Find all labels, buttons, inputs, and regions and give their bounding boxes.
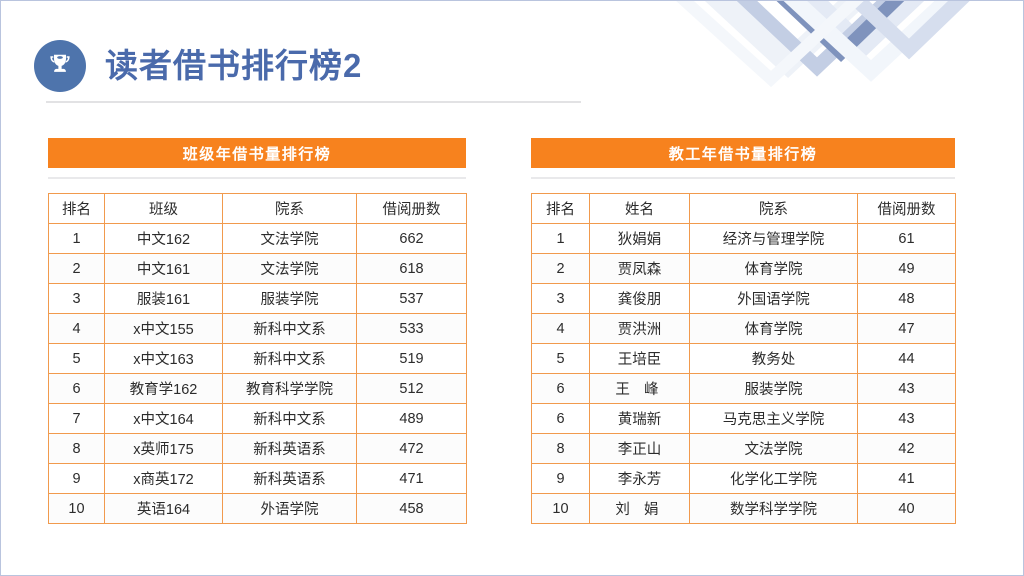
cell-name: 李正山	[590, 434, 690, 464]
table-row: 1 狄娟娟 经济与管理学院 61	[532, 224, 956, 254]
cell-department: 文法学院	[223, 254, 357, 284]
table-row: 2 中文161 文法学院 618	[49, 254, 467, 284]
cell-name: 龚俊朋	[590, 284, 690, 314]
cell-count: 512	[357, 374, 467, 404]
cell-class: 英语164	[105, 494, 223, 524]
staff-ranking-banner: 教工年借书量排行榜	[531, 138, 955, 168]
cell-name: 贾凤森	[590, 254, 690, 284]
cell-department: 服装学院	[223, 284, 357, 314]
cell-count: 44	[858, 344, 956, 374]
cell-count: 519	[357, 344, 467, 374]
table-row: 3 服装161 服装学院 537	[49, 284, 467, 314]
cell-count: 533	[357, 314, 467, 344]
column-header-department: 院系	[223, 194, 357, 224]
cell-count: 42	[858, 434, 956, 464]
cell-department: 体育学院	[690, 314, 858, 344]
cell-rank: 8	[49, 434, 105, 464]
table-row: 3 龚俊朋 外国语学院 48	[532, 284, 956, 314]
cell-count: 471	[357, 464, 467, 494]
cell-rank: 9	[532, 464, 590, 494]
column-header-name: 姓名	[590, 194, 690, 224]
cell-name: 黄瑞新	[590, 404, 690, 434]
cell-department: 新科中文系	[223, 404, 357, 434]
cell-rank: 9	[49, 464, 105, 494]
cell-count: 61	[858, 224, 956, 254]
trophy-icon-svg	[45, 51, 75, 81]
cell-department: 新科英语系	[223, 434, 357, 464]
class-banner-underline	[48, 177, 466, 179]
cell-count: 458	[357, 494, 467, 524]
table-row: 2 贾凤森 体育学院 49	[532, 254, 956, 284]
table-row: 10 英语164 外语学院 458	[49, 494, 467, 524]
cell-rank: 3	[49, 284, 105, 314]
cell-count: 41	[858, 464, 956, 494]
cell-rank: 1	[532, 224, 590, 254]
cell-rank: 6	[49, 374, 105, 404]
table-row: 9 x商英172 新科英语系 471	[49, 464, 467, 494]
cell-department: 教育科学学院	[223, 374, 357, 404]
cell-rank: 6	[532, 404, 590, 434]
table-row: 5 x中文163 新科中文系 519	[49, 344, 467, 374]
cell-rank: 5	[532, 344, 590, 374]
table-row: 7 x中文164 新科中文系 489	[49, 404, 467, 434]
cell-class: 中文162	[105, 224, 223, 254]
cell-class: x商英172	[105, 464, 223, 494]
cell-department: 数学科学学院	[690, 494, 858, 524]
cell-department: 教务处	[690, 344, 858, 374]
cell-count: 48	[858, 284, 956, 314]
cell-count: 537	[357, 284, 467, 314]
class-ranking-panel: 班级年借书量排行榜 排名 班级 院系 借阅册数 1 中文162 文法学院 6	[48, 138, 466, 524]
cell-rank: 7	[49, 404, 105, 434]
cell-name: 李永芳	[590, 464, 690, 494]
cell-count: 662	[357, 224, 467, 254]
cell-rank: 2	[49, 254, 105, 284]
cell-rank: 10	[49, 494, 105, 524]
cell-department: 文法学院	[223, 224, 357, 254]
cell-count: 43	[858, 404, 956, 434]
slide-canvas: 读者借书排行榜2 班级年借书量排行榜 排名 班级 院系 借阅册数 1 中文16	[0, 0, 1024, 576]
cell-department: 体育学院	[690, 254, 858, 284]
column-header-rank: 排名	[49, 194, 105, 224]
table-row: 9 李永芳 化学化工学院 41	[532, 464, 956, 494]
cell-department: 化学化工学院	[690, 464, 858, 494]
table-row: 10 刘 娟 数学科学学院 40	[532, 494, 956, 524]
cell-rank: 4	[49, 314, 105, 344]
cell-department: 外国语学院	[690, 284, 858, 314]
cell-department: 经济与管理学院	[690, 224, 858, 254]
table-row: 6 王 峰 服装学院 43	[532, 374, 956, 404]
cell-class: x中文155	[105, 314, 223, 344]
table-row: 5 王培臣 教务处 44	[532, 344, 956, 374]
table-row: 8 x英师175 新科英语系 472	[49, 434, 467, 464]
column-header-rank: 排名	[532, 194, 590, 224]
column-header-class: 班级	[105, 194, 223, 224]
cell-class: 教育学162	[105, 374, 223, 404]
cell-department: 服装学院	[690, 374, 858, 404]
cell-class: x中文164	[105, 404, 223, 434]
cell-department: 马克思主义学院	[690, 404, 858, 434]
cell-count: 489	[357, 404, 467, 434]
cell-department: 外语学院	[223, 494, 357, 524]
cell-count: 47	[858, 314, 956, 344]
column-header-department: 院系	[690, 194, 858, 224]
title-divider	[46, 101, 581, 103]
cell-rank: 10	[532, 494, 590, 524]
staff-banner-underline	[531, 177, 955, 179]
cell-count: 43	[858, 374, 956, 404]
cell-class: 服装161	[105, 284, 223, 314]
cell-name: 王 峰	[590, 374, 690, 404]
table-header-row: 排名 姓名 院系 借阅册数	[532, 194, 956, 224]
table-row: 8 李正山 文法学院 42	[532, 434, 956, 464]
cell-count: 49	[858, 254, 956, 284]
cell-rank: 5	[49, 344, 105, 374]
class-ranking-banner: 班级年借书量排行榜	[48, 138, 466, 168]
staff-ranking-panel: 教工年借书量排行榜 排名 姓名 院系 借阅册数 1 狄娟娟 经济与管理学院	[531, 138, 955, 524]
staff-ranking-table: 排名 姓名 院系 借阅册数 1 狄娟娟 经济与管理学院 61 2 贾凤森 体育学…	[531, 193, 956, 524]
table-row: 4 贾洪洲 体育学院 47	[532, 314, 956, 344]
cell-rank: 1	[49, 224, 105, 254]
cell-department: 新科中文系	[223, 344, 357, 374]
cell-count: 618	[357, 254, 467, 284]
column-header-count: 借阅册数	[357, 194, 467, 224]
column-header-count: 借阅册数	[858, 194, 956, 224]
table-row: 6 黄瑞新 马克思主义学院 43	[532, 404, 956, 434]
table-row: 6 教育学162 教育科学学院 512	[49, 374, 467, 404]
cell-rank: 6	[532, 374, 590, 404]
cell-rank: 4	[532, 314, 590, 344]
cell-rank: 3	[532, 284, 590, 314]
cell-name: 王培臣	[590, 344, 690, 374]
cell-name: 刘 娟	[590, 494, 690, 524]
trophy-icon	[34, 40, 86, 92]
cell-count: 472	[357, 434, 467, 464]
cell-name: 狄娟娟	[590, 224, 690, 254]
cell-class: x英师175	[105, 434, 223, 464]
cell-department: 新科英语系	[223, 464, 357, 494]
page-header: 读者借书排行榜2	[1, 1, 1024, 105]
cell-class: x中文163	[105, 344, 223, 374]
cell-class: 中文161	[105, 254, 223, 284]
cell-rank: 2	[532, 254, 590, 284]
class-ranking-table: 排名 班级 院系 借阅册数 1 中文162 文法学院 662 2 中文161 文…	[48, 193, 467, 524]
page-title: 读者借书排行榜2	[105, 45, 362, 87]
table-row: 1 中文162 文法学院 662	[49, 224, 467, 254]
table-header-row: 排名 班级 院系 借阅册数	[49, 194, 467, 224]
cell-name: 贾洪洲	[590, 314, 690, 344]
cell-count: 40	[858, 494, 956, 524]
cell-rank: 8	[532, 434, 590, 464]
cell-department: 新科中文系	[223, 314, 357, 344]
table-row: 4 x中文155 新科中文系 533	[49, 314, 467, 344]
cell-department: 文法学院	[690, 434, 858, 464]
